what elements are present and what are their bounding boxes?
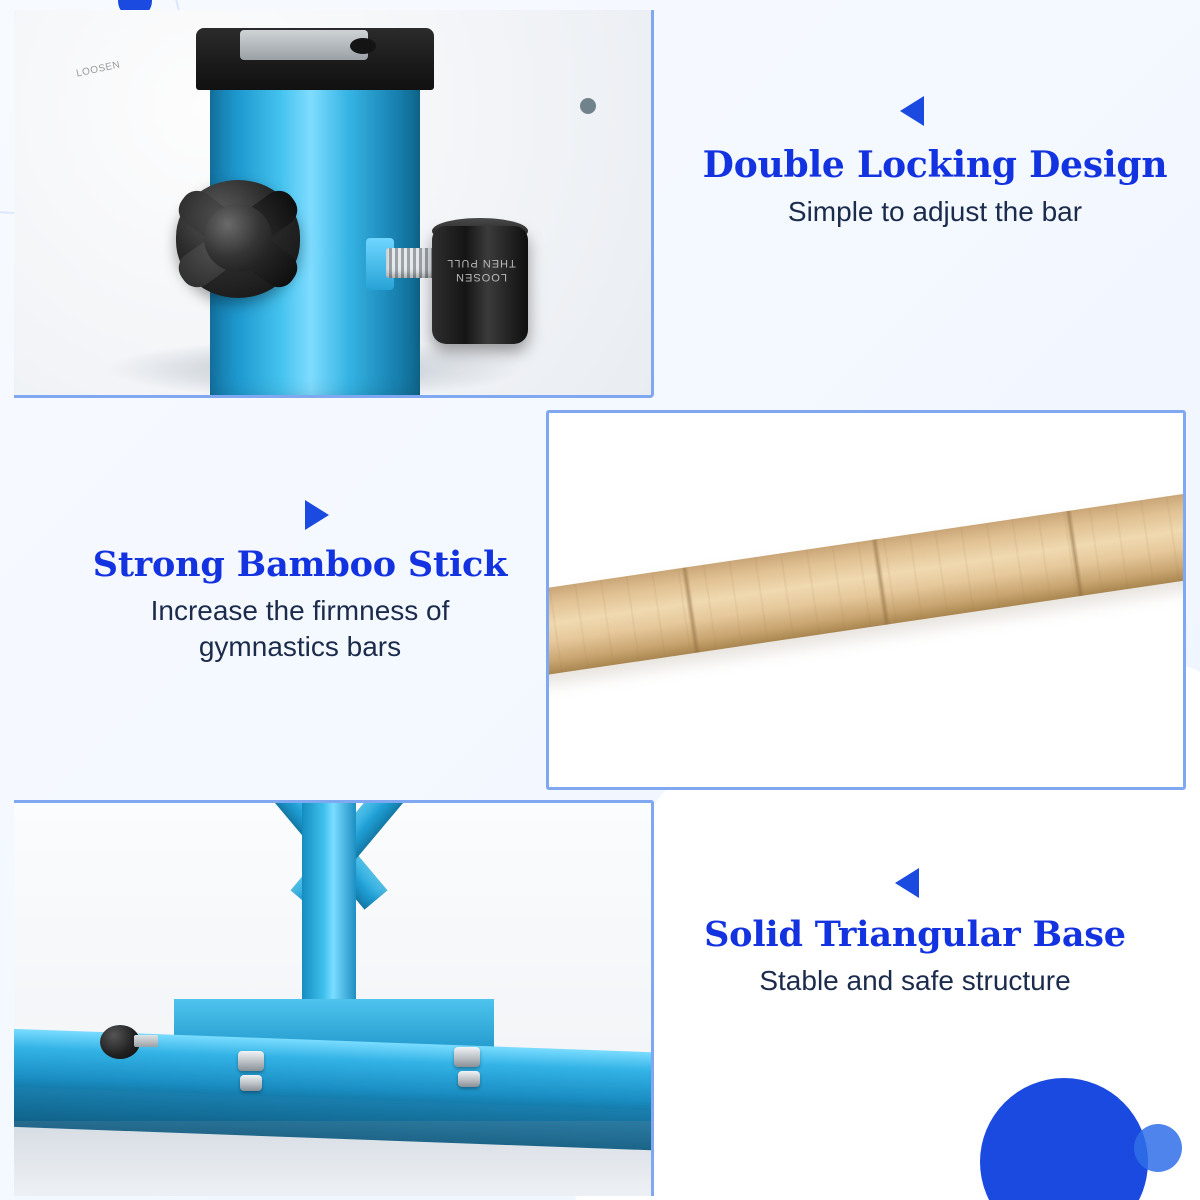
feature-text-strong-bamboo-stick: Strong Bamboo Stick Increase the firmnes… (70, 500, 530, 665)
base-vertical-post (302, 800, 356, 1029)
feature-subheading-line2: gymnastics bars (70, 629, 530, 665)
feature-subheading: Increase the firmness of gymnastics bars (70, 593, 530, 665)
feature-subheading: Stable and safe structure (680, 963, 1150, 999)
triangle-right-icon (305, 500, 329, 530)
base-bolt (454, 1047, 480, 1067)
cylinder-knob-label-line2: THEN PULL (446, 257, 516, 269)
base-bolt (240, 1075, 262, 1091)
feature-heading: Solid Triangular Base (680, 914, 1150, 955)
base-floor-shadow (14, 1121, 654, 1191)
cylinder-knob (432, 226, 528, 344)
blue-dot-small-icon (1134, 1124, 1182, 1172)
bamboo-grain-texture (546, 489, 1186, 676)
knob-closeup-photo: LOOSEN LOOSEN THEN PULL (14, 10, 654, 398)
bamboo-bar (546, 489, 1186, 676)
post-cap-metal-insert (240, 30, 368, 60)
star-knob-face (204, 204, 272, 272)
cylinder-knob-label: LOOSEN THEN PULL (442, 256, 520, 284)
cylinder-knob-label-line1: LOOSEN (455, 271, 507, 283)
infographic-page: LOOSEN LOOSEN THEN PULL Double Locking D… (0, 0, 1200, 1200)
triangle-left-icon (895, 868, 919, 898)
star-knob-label: LOOSEN (75, 59, 121, 79)
feature-text-solid-triangular-base: Solid Triangular Base Stable and safe st… (680, 868, 1150, 999)
base-bolt (458, 1071, 480, 1087)
feature-text-double-locking-design: Double Locking Design Simple to adjust t… (700, 96, 1170, 230)
base-knob-stem (134, 1035, 158, 1047)
star-knob (176, 180, 300, 298)
triangular-base-photo (14, 800, 654, 1196)
feature-subheading-line1: Increase the firmness of (70, 593, 530, 629)
triangle-left-icon (900, 96, 924, 126)
feature-heading: Strong Bamboo Stick (70, 544, 530, 585)
post-side-hole (580, 98, 596, 114)
bamboo-photo-background (549, 413, 1183, 787)
base-bolt (238, 1051, 264, 1071)
base-photo-background (14, 803, 651, 1196)
feature-subheading: Simple to adjust the bar (700, 194, 1170, 230)
knob-photo-background: LOOSEN LOOSEN THEN PULL (14, 10, 651, 395)
bamboo-bar-photo (546, 410, 1186, 790)
feature-heading: Double Locking Design (700, 144, 1170, 186)
post-top-hole (350, 38, 376, 54)
